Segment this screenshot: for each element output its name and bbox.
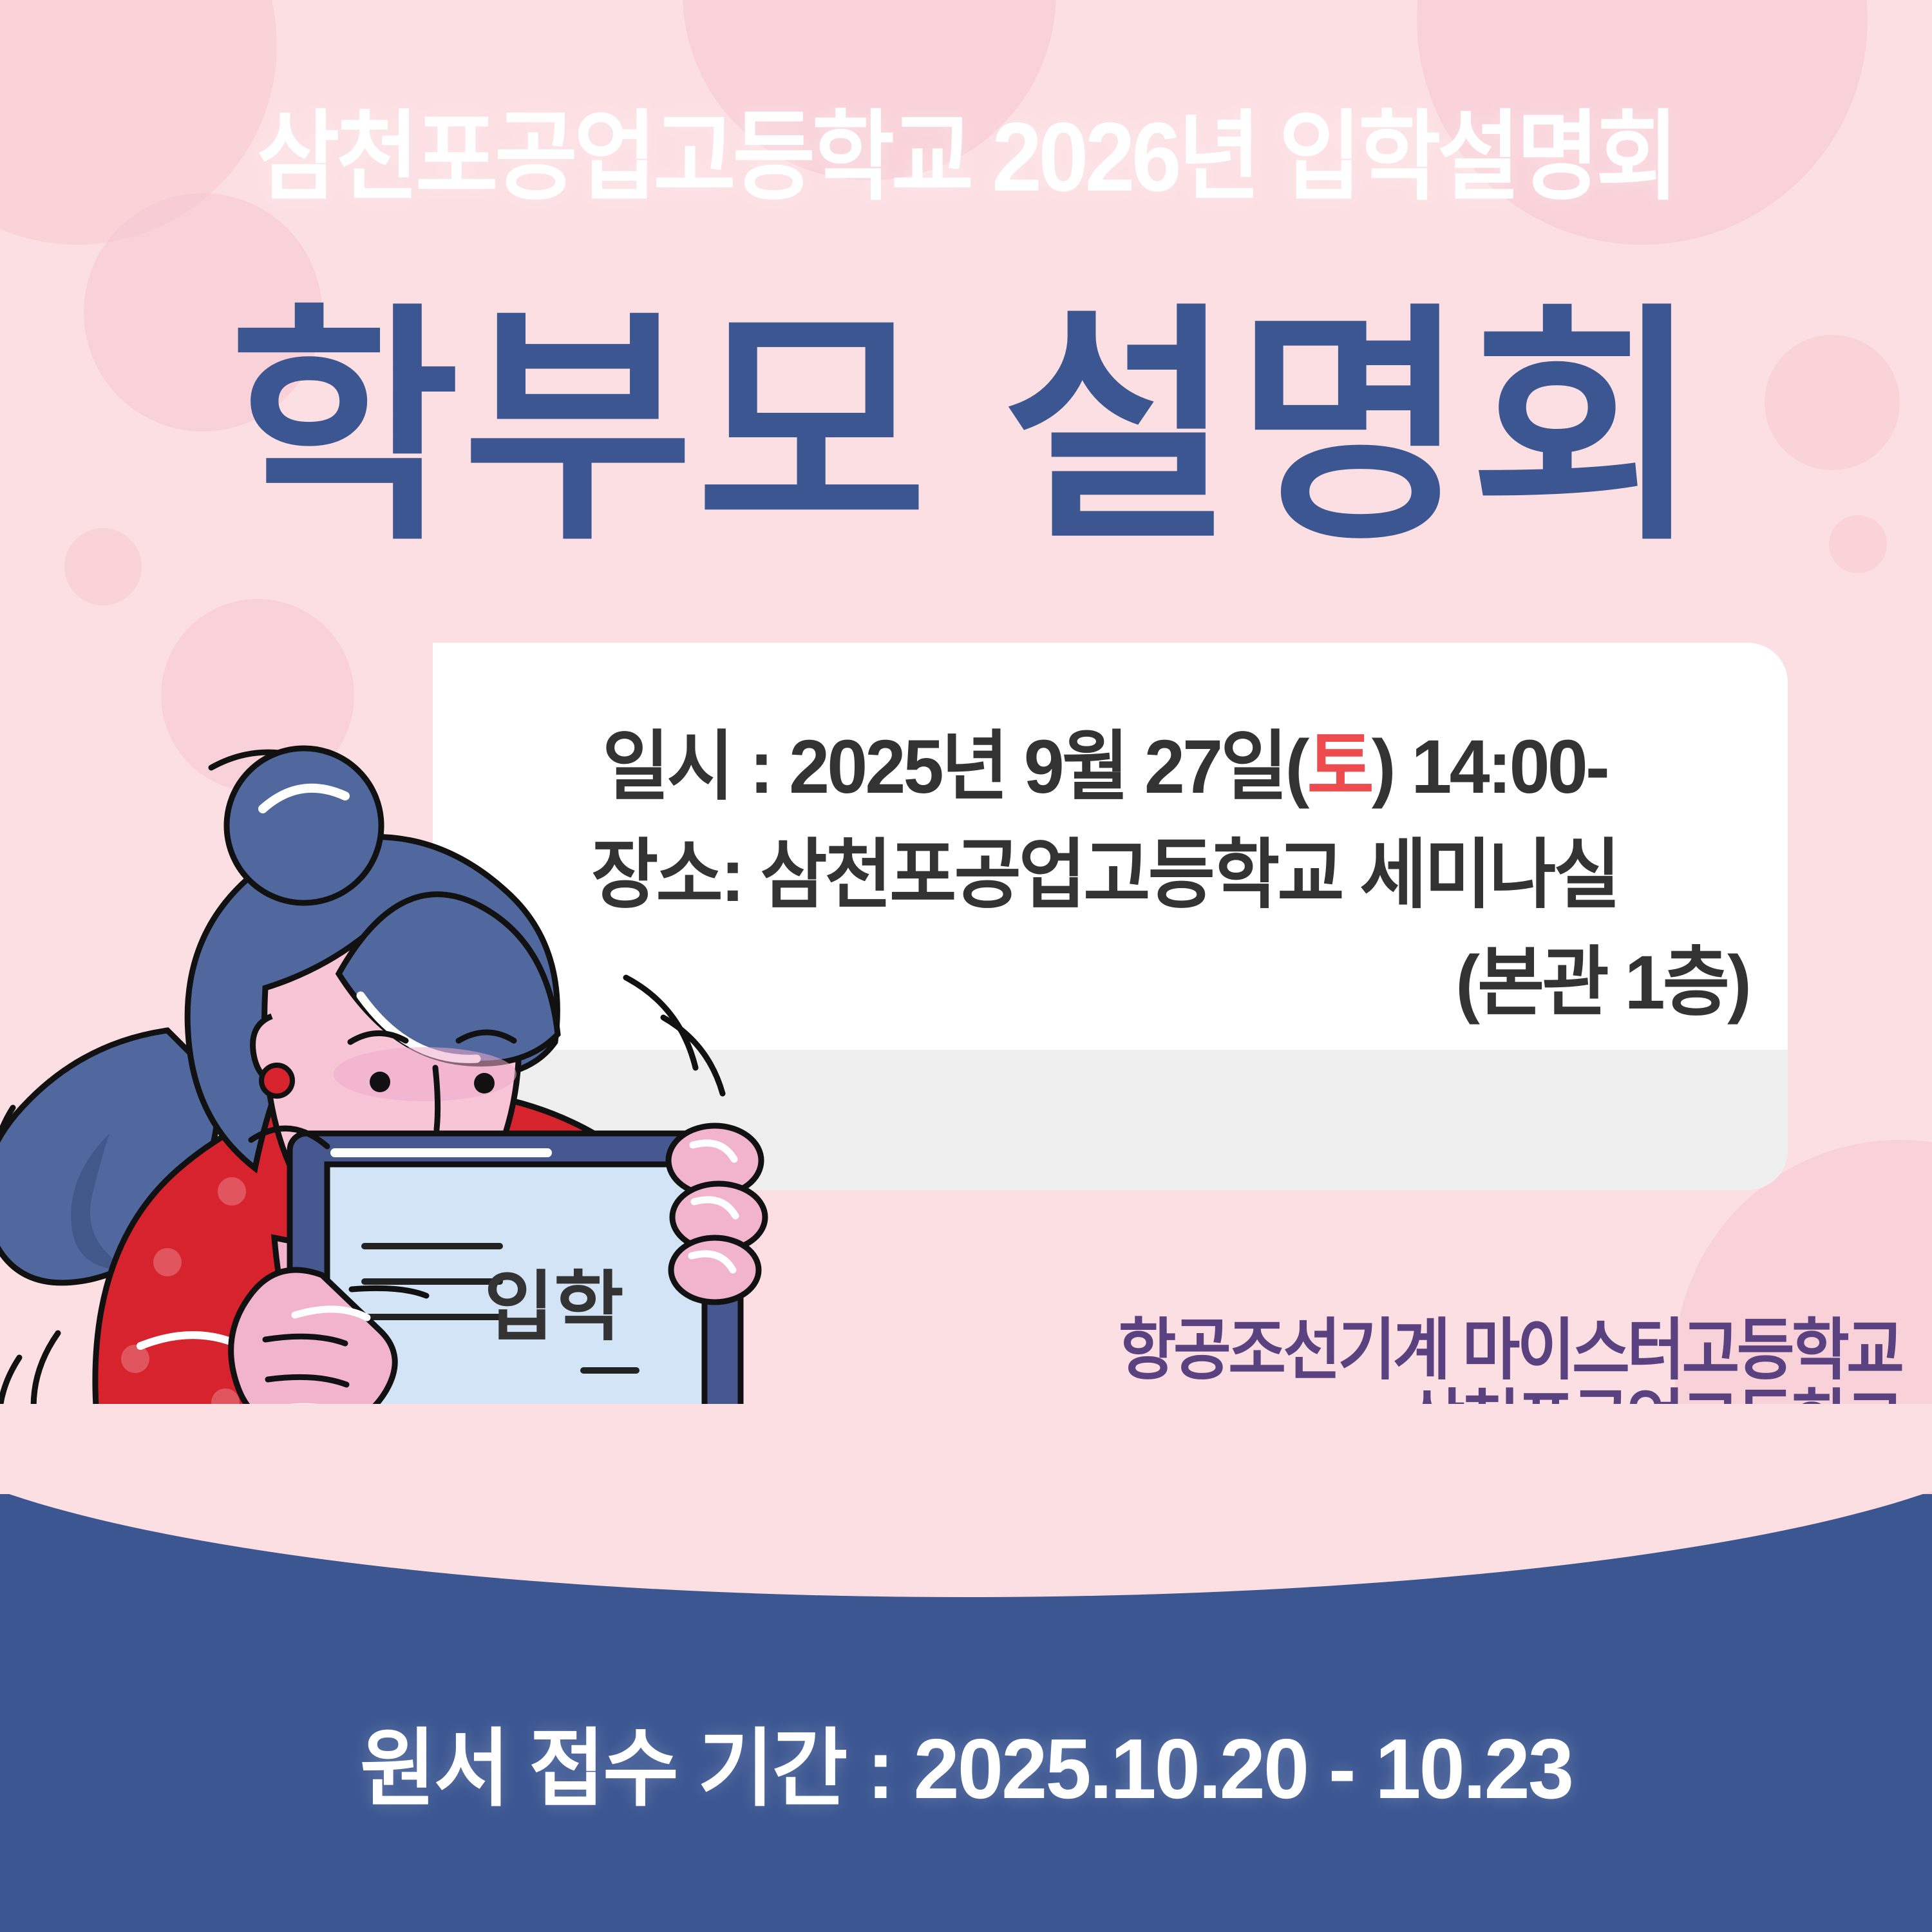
poster-canvas: 삼천포공업고등학교 2026년 입학설명회 학부모 설명회 일시 : 2025년… (0, 0, 1932, 1932)
screen-label: 입학 (484, 1265, 623, 1350)
right-hand (668, 1126, 765, 1302)
event-datetime-suffix: ) 14:00- (1372, 724, 1607, 810)
earring (261, 1065, 292, 1096)
nose (435, 1068, 438, 1130)
application-period-text: 원서 접수 기간 : 2025.10.20 - 10.23 (29, 1494, 1903, 1932)
event-day-of-week: 토 (1307, 724, 1372, 810)
application-period-banner: 원서 접수 기간 : 2025.10.20 - 10.23 (0, 1494, 1932, 1932)
motion-arc-r1 (626, 978, 696, 1068)
school-name-line-1: 항공조선기계 마이스터고등학교 (1118, 1315, 1901, 1386)
poster-headline: 삼천포공업고등학교 2026년 입학설명회 (77, 108, 1855, 206)
page-title: 학부모 설명회 (0, 303, 1932, 554)
hair-bun (227, 748, 381, 903)
eye-right (474, 1073, 495, 1094)
woman-with-laptop-illustration: 입학 (0, 683, 824, 1507)
eye-left (370, 1072, 390, 1092)
